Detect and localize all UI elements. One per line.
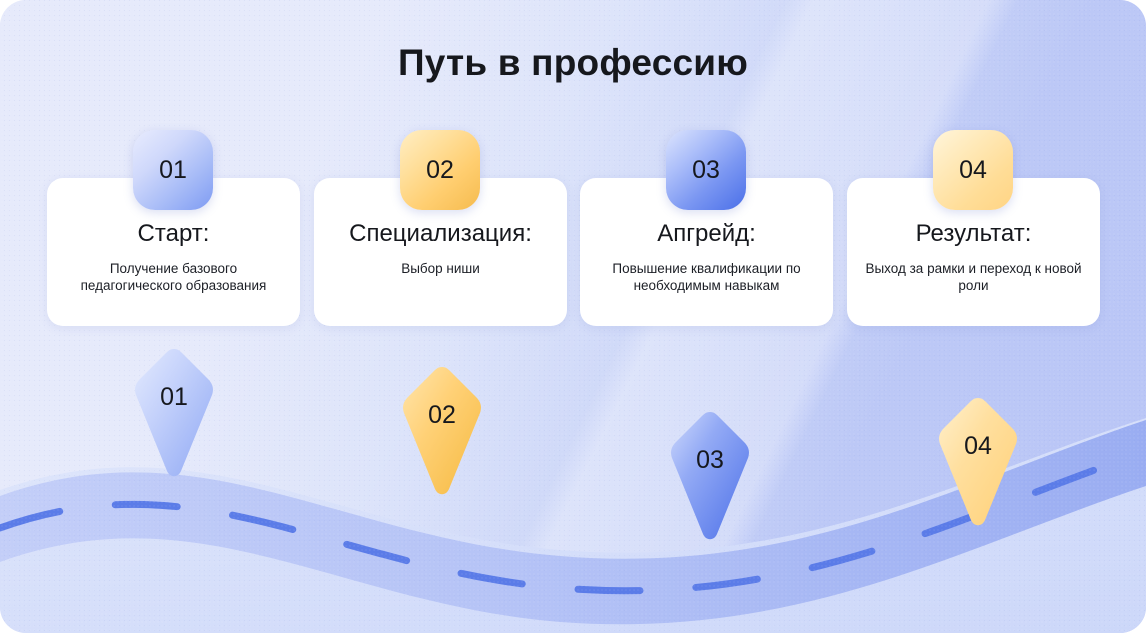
map-pin-label: 04 <box>932 432 1024 461</box>
map-pin-shape-icon <box>128 345 220 481</box>
map-pin-shape-icon <box>664 408 756 544</box>
step-badge-3: 03 <box>666 130 746 210</box>
step-card-heading: Результат: <box>847 220 1100 248</box>
step-card-description: Получение базового педагогического образ… <box>59 260 288 294</box>
infographic-canvas: Путь в профессию Старт: Получение базово… <box>0 0 1146 633</box>
map-pin-4[interactable]: 04 <box>932 394 1024 530</box>
map-pin-2[interactable]: 02 <box>396 363 488 499</box>
page-title: Путь в профессию <box>0 42 1146 84</box>
map-pin-3[interactable]: 03 <box>664 408 756 544</box>
step-badge-1: 01 <box>133 130 213 210</box>
step-card-description: Выход за рамки и переход к новой роли <box>859 260 1088 294</box>
step-card-description: Повышение квалификации по необходимым на… <box>592 260 821 294</box>
map-pin-1[interactable]: 01 <box>128 345 220 481</box>
map-pin-shape-icon <box>396 363 488 499</box>
step-card-heading: Старт: <box>47 220 300 248</box>
map-pin-label: 01 <box>128 383 220 412</box>
step-card-heading: Специализация: <box>314 220 567 248</box>
map-pin-shape-icon <box>932 394 1024 530</box>
step-badge-2: 02 <box>400 130 480 210</box>
step-badge-4: 04 <box>933 130 1013 210</box>
step-card-description: Выбор ниши <box>326 260 555 277</box>
step-card-heading: Апгрейд: <box>580 220 833 248</box>
map-pin-label: 03 <box>664 446 756 475</box>
map-pin-label: 02 <box>396 401 488 430</box>
